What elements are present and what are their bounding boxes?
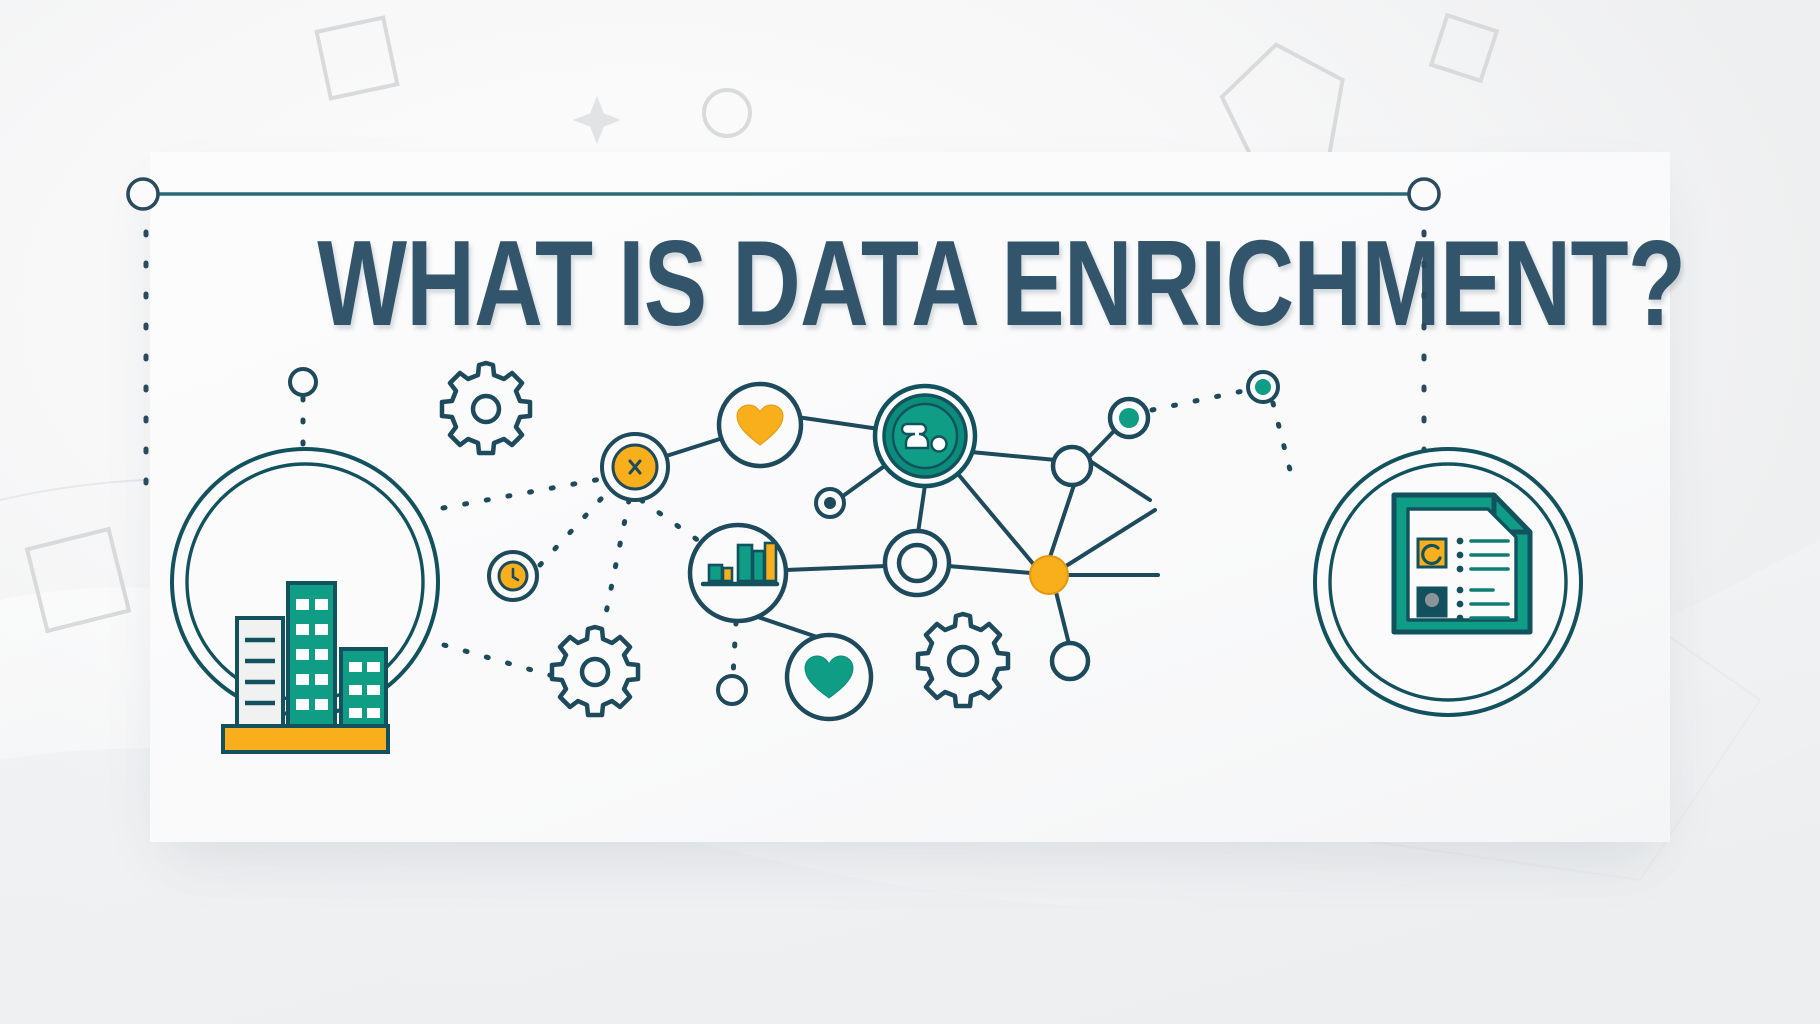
white-junction-node[interactable] <box>1053 447 1091 485</box>
document-record-icon <box>1394 495 1530 632</box>
link-whiteup-hub <box>1050 485 1074 557</box>
link-ring-hub <box>948 566 1031 573</box>
top-open-node[interactable] <box>290 369 316 395</box>
photo-icon <box>1425 593 1439 607</box>
network-layer <box>0 0 1820 1024</box>
gear-icon-top <box>442 363 530 453</box>
dashed-link-badge-gear <box>444 645 560 678</box>
white-lower-node[interactable] <box>1052 643 1088 679</box>
dashed-link-far-badge <box>1273 403 1290 470</box>
link-hub-badge-up <box>1066 510 1155 566</box>
dashed-link-tealdot-far <box>1152 391 1243 410</box>
link-user-hub <box>958 474 1035 566</box>
teal-dot-icon <box>1119 408 1139 428</box>
link-user-whiteup <box>971 452 1056 460</box>
link-pin-heart <box>660 437 726 458</box>
orange-heart-node[interactable] <box>719 384 801 466</box>
dashed-link-pin-gear <box>603 500 629 628</box>
company-buildings-badge[interactable] <box>172 449 438 752</box>
teal-far-icon <box>1255 379 1271 395</box>
link-hub-whitedown <box>1056 592 1069 644</box>
chip-icon <box>824 497 836 509</box>
dashed-link-pin-chart <box>641 500 706 546</box>
link-whiteup-badge <box>1087 459 1150 500</box>
gear-icon-bottom <box>552 627 638 715</box>
link-whiteup-tealdot <box>1088 430 1115 458</box>
link-chip-user <box>843 462 890 496</box>
orange-hub-node[interactable] <box>1030 556 1068 594</box>
link-chart-heartteal <box>755 616 820 638</box>
double-ring-node[interactable] <box>885 531 949 595</box>
teal-heart-node[interactable] <box>787 635 871 719</box>
dashed-link-clock-pin <box>540 487 612 565</box>
bar-chart-node[interactable] <box>690 525 786 621</box>
teal-dot-node[interactable] <box>1110 399 1148 437</box>
teal-far-node[interactable] <box>1248 372 1278 402</box>
chip-node[interactable] <box>816 489 844 517</box>
link-heart-user <box>797 417 879 429</box>
link-user-ring <box>918 485 925 533</box>
teal-user-node[interactable] <box>875 386 975 486</box>
orange-clock-node[interactable] <box>489 552 537 600</box>
small-open-node[interactable] <box>718 676 746 704</box>
enriched-record-badge[interactable] <box>1315 449 1581 715</box>
dashed-link-chart-dot <box>733 622 736 676</box>
ring-icon <box>899 545 935 581</box>
gear-icon-right <box>918 614 1008 706</box>
building-base <box>223 726 388 752</box>
building-white <box>237 618 283 730</box>
dashed-link-badge-pin <box>443 477 612 508</box>
orange-pin-node[interactable] <box>602 434 668 500</box>
link-chart-ring <box>786 566 886 570</box>
infographic-canvas: WHAT IS DATA ENRICHMENT? <box>0 0 1820 1024</box>
